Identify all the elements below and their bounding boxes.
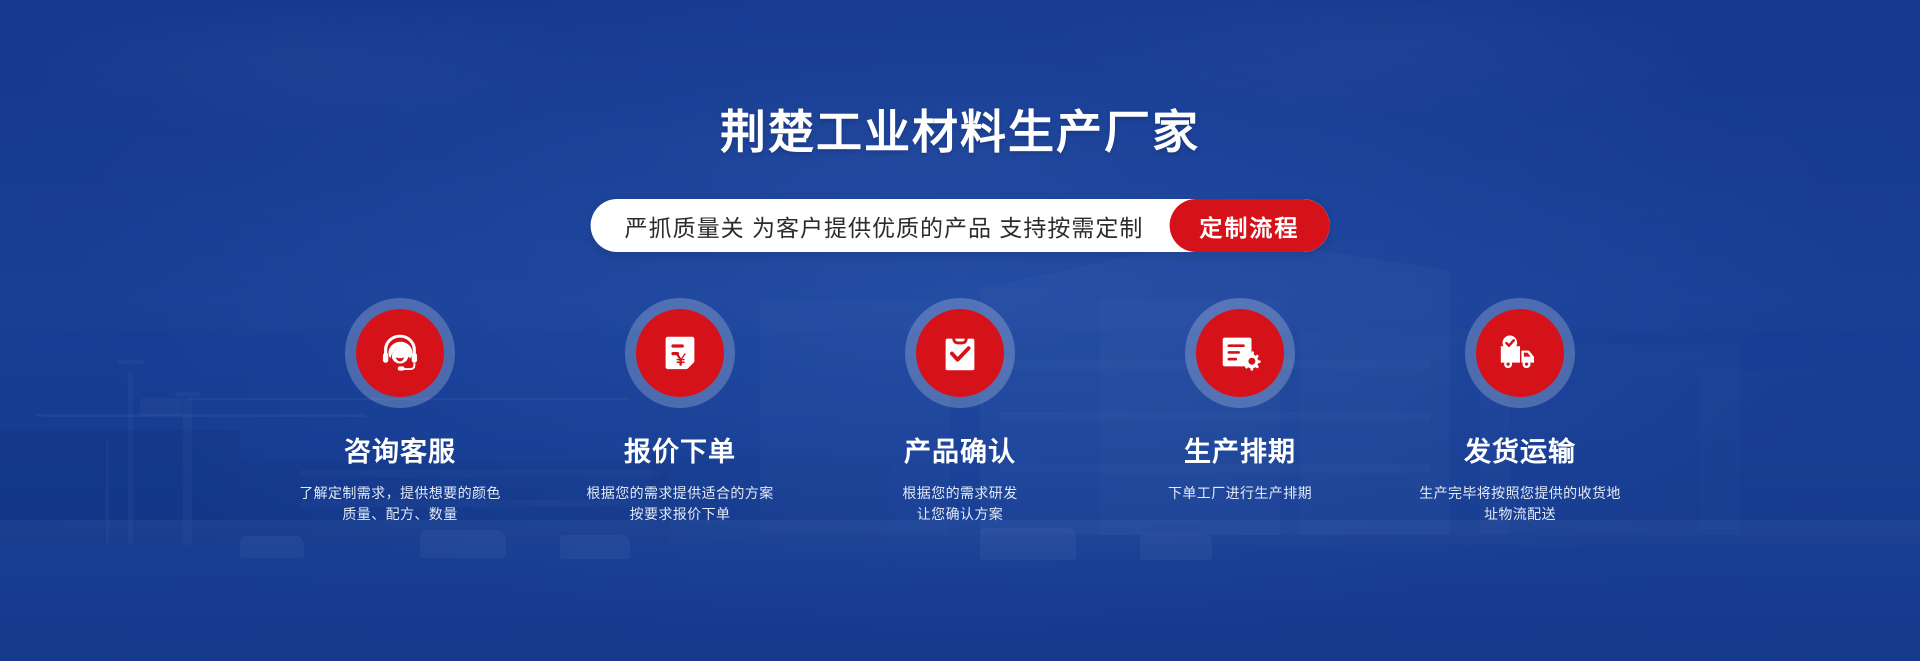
process-step: 生产排期 下单工厂进行生产排期 <box>1100 298 1380 504</box>
tagline-pill: 严抓质量关 为客户提供优质的产品 支持按需定制 定制流程 <box>591 199 1330 252</box>
step-icon-circle <box>1476 309 1564 397</box>
step-title: 报价下单 <box>624 430 736 469</box>
step-description: 了解定制需求，提供想要的颜色 质量、配方、数量 <box>299 483 501 525</box>
page-title: 荆楚工业材料生产厂家 <box>0 96 1920 162</box>
process-steps: 咨询客服 了解定制需求，提供想要的颜色 质量、配方、数量 报价下单 <box>260 298 1660 525</box>
step-desc-line: 了解定制需求，提供想要的颜色 <box>299 485 501 501</box>
step-desc-line: 址物流配送 <box>1484 506 1556 522</box>
step-desc-line: 根据您的需求研发 <box>902 485 1017 501</box>
tagline-text: 严抓质量关 为客户提供优质的产品 支持按需定制 <box>591 199 1170 252</box>
clipboard-check-icon <box>937 330 983 376</box>
step-icon-button-quote[interactable] <box>625 298 735 408</box>
step-title: 产品确认 <box>904 430 1016 469</box>
step-icon-button-schedule[interactable] <box>1185 298 1295 408</box>
step-desc-line: 生产完毕将按照您提供的收货地 <box>1419 485 1621 501</box>
process-step: 产品确认 根据您的需求研发 让您确认方案 <box>820 298 1100 525</box>
step-desc-line: 根据您的需求提供适合的方案 <box>586 485 773 501</box>
step-desc-line: 让您确认方案 <box>917 506 1003 522</box>
step-desc-line: 质量、配方、数量 <box>342 506 457 522</box>
step-description: 根据您的需求提供适合的方案 按要求报价下单 <box>586 483 773 525</box>
step-description: 生产完毕将按照您提供的收货地 址物流配送 <box>1419 483 1621 525</box>
headset-support-icon <box>377 330 423 376</box>
delivery-truck-check-icon <box>1497 330 1543 376</box>
step-title: 生产排期 <box>1184 430 1296 469</box>
quote-invoice-yen-icon <box>657 330 703 376</box>
step-title: 咨询客服 <box>344 430 456 469</box>
process-step: 咨询客服 了解定制需求，提供想要的颜色 质量、配方、数量 <box>260 298 540 525</box>
step-icon-button-consult[interactable] <box>345 298 455 408</box>
step-icon-circle <box>636 309 724 397</box>
step-icon-button-shipping[interactable] <box>1465 298 1575 408</box>
step-title: 发货运输 <box>1464 430 1576 469</box>
step-desc-line: 下单工厂进行生产排期 <box>1168 485 1312 501</box>
step-icon-circle <box>1196 309 1284 397</box>
step-icon-circle <box>916 309 1004 397</box>
step-description: 根据您的需求研发 让您确认方案 <box>902 483 1017 525</box>
step-desc-line: 按要求报价下单 <box>630 506 731 522</box>
custom-process-button[interactable]: 定制流程 <box>1169 199 1329 252</box>
banner-content: 荆楚工业材料生产厂家 严抓质量关 为客户提供优质的产品 支持按需定制 定制流程 <box>0 0 1920 661</box>
process-step: 报价下单 根据您的需求提供适合的方案 按要求报价下单 <box>540 298 820 525</box>
step-icon-button-confirm[interactable] <box>905 298 1015 408</box>
step-icon-circle <box>356 309 444 397</box>
step-description: 下单工厂进行生产排期 <box>1168 483 1312 504</box>
process-step: 发货运输 生产完毕将按照您提供的收货地 址物流配送 <box>1380 298 1660 525</box>
document-gear-icon <box>1217 330 1263 376</box>
